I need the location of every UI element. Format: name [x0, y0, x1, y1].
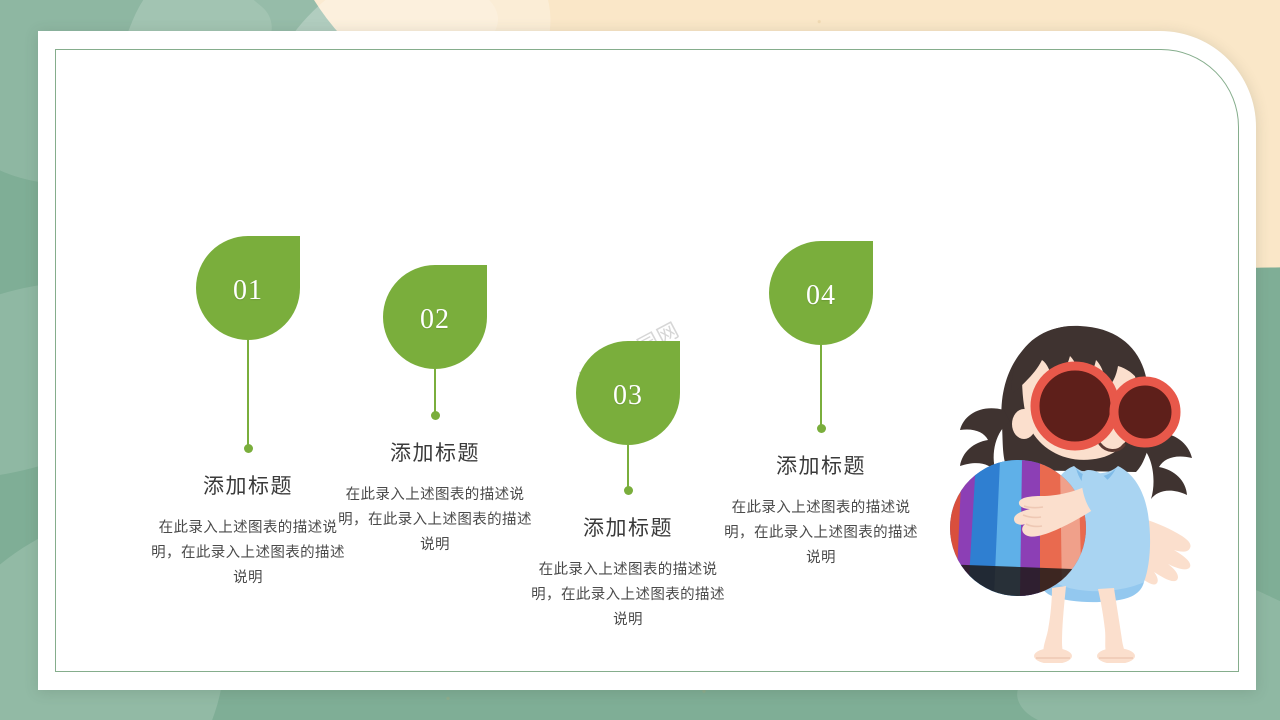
stem-dot — [244, 444, 253, 453]
stem-dot — [624, 486, 633, 495]
item-description: 在此录入上述图表的描述说明，在此录入上述图表的描述说明 — [528, 558, 728, 633]
stem-dot — [431, 411, 440, 420]
leaf-number: 01 — [233, 275, 263, 307]
leaf-badge-03[interactable]: 03 — [576, 341, 680, 445]
leaf-badge-02[interactable]: 02 — [383, 265, 487, 369]
stem-line — [627, 445, 629, 489]
item-text-block: 添加标题 在此录入上述图表的描述说明，在此录入上述图表的描述说明 — [148, 470, 348, 591]
stem-line — [247, 340, 249, 448]
item-text-block: 添加标题 在此录入上述图表的描述说明，在此录入上述图表的描述说明 — [528, 512, 728, 633]
stem-line — [434, 369, 436, 414]
stem-line — [820, 345, 822, 427]
girl-with-beach-ball-illustration — [930, 318, 1210, 663]
item-description: 在此录入上述图表的描述说明，在此录入上述图表的描述说明 — [721, 496, 921, 571]
leaf-number: 02 — [420, 304, 450, 336]
leaf-number: 04 — [806, 280, 836, 312]
stem-dot — [817, 424, 826, 433]
item-title: 添加标题 — [528, 512, 728, 542]
item-title: 添加标题 — [148, 470, 348, 500]
girl-svg — [930, 318, 1210, 663]
leaf-badge-04[interactable]: 04 — [769, 241, 873, 345]
item-description: 在此录入上述图表的描述说明，在此录入上述图表的描述说明 — [148, 516, 348, 591]
item-text-block: 添加标题 在此录入上述图表的描述说明，在此录入上述图表的描述说明 — [335, 437, 535, 558]
slide-canvas: PPT家园网 01 添加标题 在此录入上述图表的描述说明，在此录入上述图表的描述… — [0, 0, 1280, 720]
item-text-block: 添加标题 在此录入上述图表的描述说明，在此录入上述图表的描述说明 — [721, 450, 921, 571]
item-title: 添加标题 — [335, 437, 535, 467]
item-description: 在此录入上述图表的描述说明，在此录入上述图表的描述说明 — [335, 483, 535, 558]
leaf-badge-01[interactable]: 01 — [196, 236, 300, 340]
leaf-number: 03 — [613, 380, 643, 412]
item-title: 添加标题 — [721, 450, 921, 480]
